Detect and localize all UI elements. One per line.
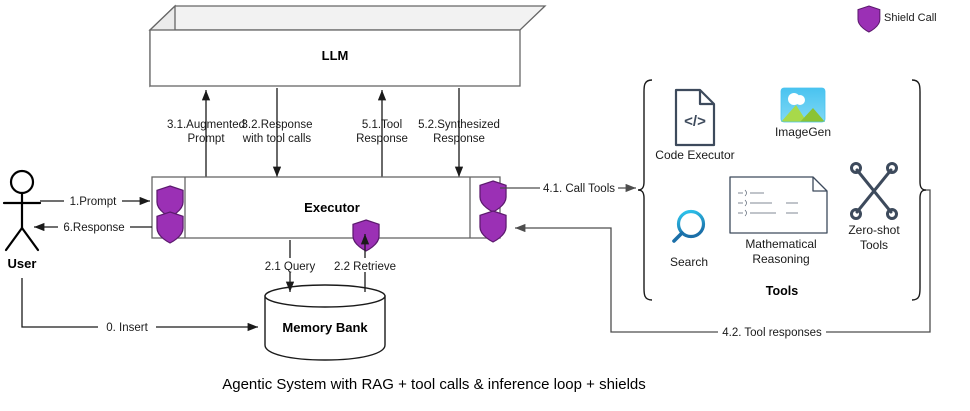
flow-tool-responses-label: 4.2. Tool responses xyxy=(722,327,822,339)
tool-math-label-line2: Reasoning xyxy=(752,252,809,266)
math-document-icon xyxy=(730,177,827,233)
flow-call-tools: 4.1. Call Tools xyxy=(500,181,636,195)
flow-query-label: 2.1 Query xyxy=(265,261,316,273)
tool-code-executor[interactable]: </> Code Executor xyxy=(655,90,734,162)
tool-imagegen-label: ImageGen xyxy=(775,125,831,139)
user-label: User xyxy=(8,256,37,271)
shield-memory-icon xyxy=(353,220,379,251)
code-document-icon: </> xyxy=(684,113,706,130)
legend: Shield Call xyxy=(858,6,937,32)
diagram-caption: Agentic System with RAG + tool calls & i… xyxy=(222,376,646,393)
tool-zero-shot-label-line1: Zero-shot xyxy=(848,223,900,237)
user-node[interactable]: User xyxy=(4,171,40,271)
flow-insert: 0. Insert xyxy=(22,278,258,334)
tool-math-label-line1: Mathematical xyxy=(745,237,816,251)
crossed-wrenches-icon xyxy=(852,164,897,219)
executor-label: Executor xyxy=(304,200,360,215)
tool-search-label: Search xyxy=(670,255,708,269)
flow-synthesized-response-line1: 5.2.Synthesized xyxy=(418,119,500,131)
flow-prompt-label: 1.Prompt xyxy=(70,196,117,208)
llm-node[interactable]: LLM xyxy=(150,6,545,86)
flow-tool-response-line1: 5.1.Tool xyxy=(362,119,402,131)
tool-math-reasoning[interactable]: Mathematical Reasoning xyxy=(730,177,827,266)
flow-augmented-prompt-line1: 3.1.Augmented xyxy=(167,119,245,131)
flow-retrieve: 2.2 Retrieve xyxy=(332,234,398,292)
flow-tool-response-line2: Response xyxy=(356,133,408,145)
agentic-system-diagram: LLM 3.1.Augmented Prompt 3.2.Response wi… xyxy=(0,0,970,411)
flow-retrieve-label: 2.2 Retrieve xyxy=(334,261,396,273)
tool-imagegen[interactable]: ImageGen xyxy=(775,88,831,139)
llm-executor-flows: 3.1.Augmented Prompt 3.2.Response with t… xyxy=(167,88,500,182)
legend-shield-icon xyxy=(858,6,880,32)
flow-insert-label: 0. Insert xyxy=(106,322,148,334)
tool-zero-shot[interactable]: Zero-shot Tools xyxy=(848,164,900,253)
tool-zero-shot-label-line2: Tools xyxy=(860,238,888,252)
flow-prompt: 1.Prompt xyxy=(40,193,150,208)
image-icon xyxy=(781,88,825,122)
legend-label: Shield Call xyxy=(884,12,937,24)
memory-bank-node[interactable]: Memory Bank xyxy=(265,285,385,360)
magnifier-icon xyxy=(674,212,704,242)
flow-tool-responses: 4.2. Tool responses xyxy=(515,190,930,339)
tool-search[interactable]: Search xyxy=(670,212,708,270)
executor-node[interactable]: Executor xyxy=(152,177,500,238)
memory-bank-label: Memory Bank xyxy=(282,320,368,335)
flow-call-tools-label: 4.1. Call Tools xyxy=(543,183,615,195)
llm-label: LLM xyxy=(322,48,349,63)
flow-response-label: 6.Response xyxy=(63,222,124,234)
flow-response-toolcalls-line1: 3.2.Response xyxy=(242,119,313,131)
flow-synthesized-response-line2: Response xyxy=(433,133,485,145)
flow-response: 6.Response xyxy=(34,219,152,234)
tools-title: Tools xyxy=(766,284,798,298)
flow-query: 2.1 Query xyxy=(264,240,316,292)
flow-response-toolcalls-line2: with tool calls xyxy=(242,133,312,145)
flow-augmented-prompt-line2: Prompt xyxy=(187,133,225,145)
tool-code-executor-label: Code Executor xyxy=(655,148,734,162)
